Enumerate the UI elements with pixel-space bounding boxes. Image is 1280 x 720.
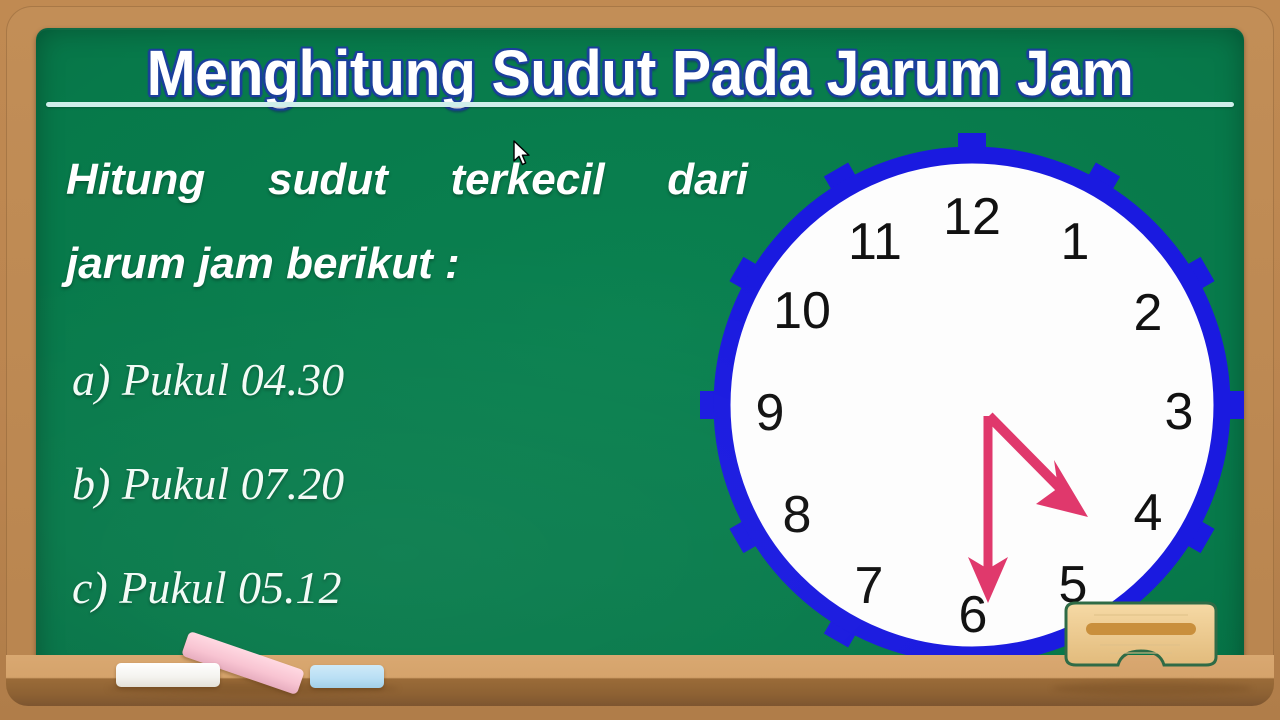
clock-numeral-4: 4 [1134, 484, 1163, 542]
question-item-list: a) Pukul 04.30 b) Pukul 07.20 c) Pukul 0… [72, 328, 692, 640]
clock-numeral-6: 6 [959, 586, 988, 644]
eraser-shadow [1052, 682, 1252, 695]
clock-numeral-10: 10 [773, 282, 831, 340]
prompt-line-1: Hitung sudut terkecil dari [66, 138, 748, 222]
blue-chalk[interactable] [310, 665, 384, 688]
chalkboard-surface: Menghitung Sudut Pada Jarum Jam Hitung s… [36, 28, 1244, 684]
page-title: Menghitung Sudut Pada Jarum Jam [84, 36, 1195, 110]
clock-numeral-1: 1 [1061, 213, 1090, 271]
clock-numeral-12: 12 [943, 188, 1001, 246]
clock-numeral-2: 2 [1134, 284, 1163, 342]
chalkboard-scene: Menghitung Sudut Pada Jarum Jam Hitung s… [0, 0, 1280, 720]
clock-numeral-3: 3 [1165, 383, 1194, 441]
title-divider-line [46, 102, 1234, 107]
list-item: a) Pukul 04.30 [72, 328, 692, 432]
list-item: c) Pukul 05.12 [72, 536, 692, 640]
question-prompt: Hitung sudut terkecil dari jarum jam ber… [66, 138, 766, 306]
eraser-groove [1086, 623, 1196, 635]
clock-numeral-9: 9 [756, 384, 785, 442]
clock-numeral-8: 8 [783, 486, 812, 544]
prompt-line-2: jarum jam berikut : [66, 222, 766, 306]
clock-numeral-11: 11 [848, 213, 902, 271]
clock-numeral-7: 7 [855, 557, 884, 615]
list-item: b) Pukul 07.20 [72, 432, 692, 536]
board-eraser[interactable] [1060, 601, 1222, 673]
white-chalk[interactable] [116, 663, 220, 687]
